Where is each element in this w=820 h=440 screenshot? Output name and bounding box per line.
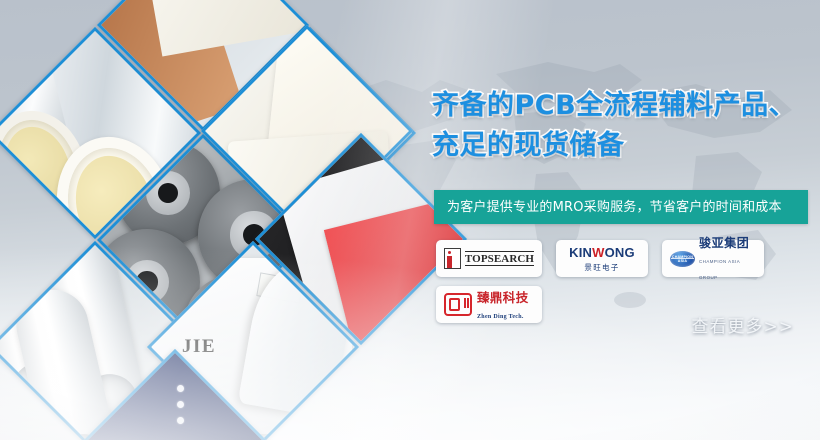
subtitle-text: 为客户提供专业的MRO采购服务，节省客户的时间和成本 (434, 201, 782, 214)
view-more-link[interactable]: 查看更多>> (692, 312, 795, 337)
headline-line-1: 齐备的PCB全流程辅料产品、 (432, 86, 820, 126)
globe-icon: CHAMPION ASIA (670, 251, 695, 267)
logo-champion-asia[interactable]: CHAMPION ASIA 骏亚集团 CHAMPION ASIA GROUP (662, 240, 764, 277)
banner-content: 齐备的PCB全流程辅料产品、 充足的现货储备 为客户提供专业的MRO采购服务，节… (432, 0, 820, 440)
zhending-mark-icon (444, 293, 472, 316)
headline: 齐备的PCB全流程辅料产品、 充足的现货储备 (432, 86, 820, 166)
logo-row-1: TOPSEARCH KINWONG 景旺电子 CHAMPION ASIA 骏亚集… (436, 240, 816, 277)
topsearch-mark-icon (444, 248, 461, 269)
topsearch-label: TOPSEARCH (465, 251, 534, 266)
product-diamond-mosaic: JIE (0, 0, 420, 440)
champion-label-en: CHAMPION ASIA GROUP (699, 259, 740, 280)
kinwong-label-cn: 景旺电子 (569, 262, 635, 273)
kinwong-label-en: KINWONG (569, 245, 635, 260)
zhending-label-cn: 臻鼎科技 (477, 290, 529, 305)
promo-banner: JIE 齐备的PCB全流程辅料产品、 充足的现货储备 为客户提供专业的MRO采购… (0, 0, 820, 440)
jie-print-text: JIE (182, 336, 216, 358)
champion-label-cn: 骏亚集团 (699, 236, 749, 250)
headline-line-2: 充足的现货储备 (432, 126, 820, 166)
logo-zhending[interactable]: 臻鼎科技 Zhen Ding Tech. (436, 286, 542, 323)
subtitle-bar: 为客户提供专业的MRO采购服务，节省客户的时间和成本 (434, 190, 808, 224)
logo-kinwong[interactable]: KINWONG 景旺电子 (556, 240, 648, 277)
zhending-label-en: Zhen Ding Tech. (477, 314, 524, 320)
logo-topsearch[interactable]: TOPSEARCH (436, 240, 542, 277)
